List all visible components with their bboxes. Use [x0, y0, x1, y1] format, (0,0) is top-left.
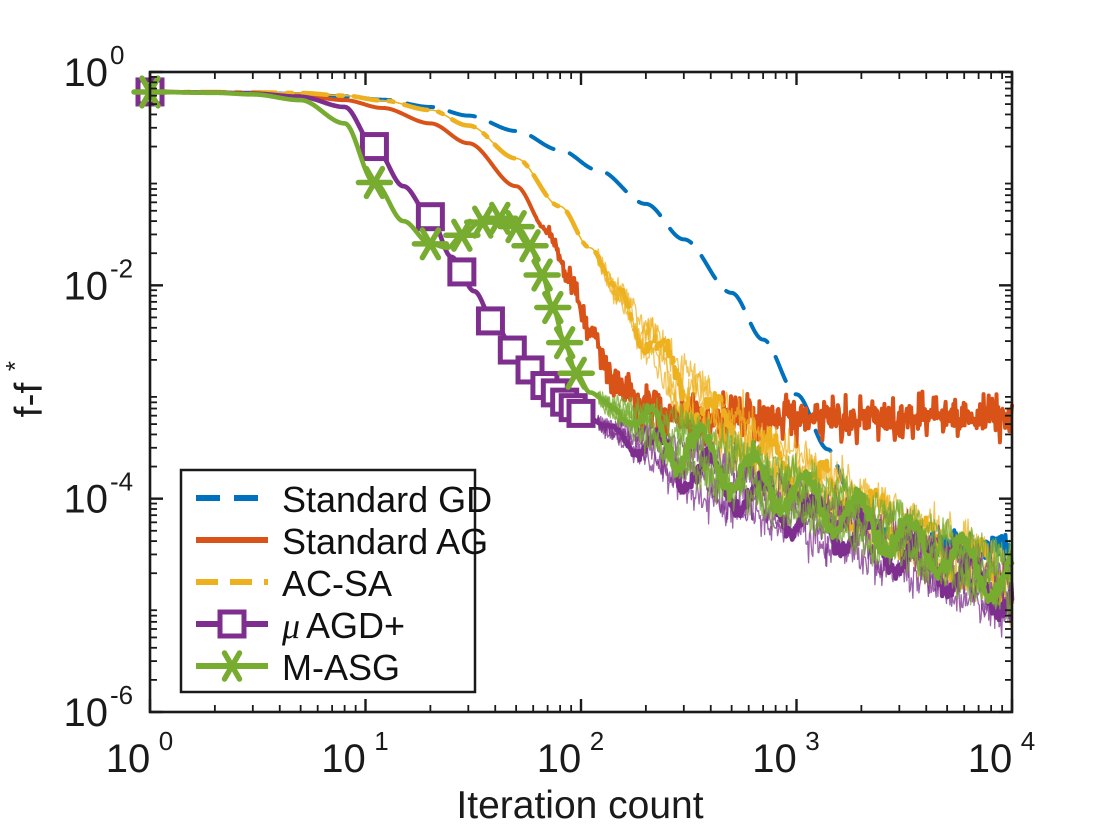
- y-tick-base: 10: [64, 691, 109, 735]
- legend[interactable]: Standard GDStandard AGAC-SAμ AGD+M-ASG: [181, 470, 492, 692]
- x-tick-exponent: 2: [590, 726, 604, 756]
- legend-label: AC-SA: [282, 563, 392, 604]
- x-tick-base: 10: [752, 737, 797, 781]
- x-tick-base: 10: [537, 737, 582, 781]
- x-tick-exponent: 0: [159, 726, 173, 756]
- y-axis-label-text: f-f: [8, 383, 51, 418]
- series-marker-square: [362, 135, 386, 159]
- x-axis-label: Iteration count: [456, 784, 703, 827]
- y-tick-exponent: -6: [110, 680, 133, 710]
- y-axis-label-superscript: *: [0, 361, 30, 371]
- x-tick-base: 10: [968, 737, 1013, 781]
- chart-canvas: 10010110210310410010-210-410-6 f-f * Ite…: [0, 0, 1120, 840]
- y-tick-base: 10: [64, 478, 109, 522]
- x-tick-base: 10: [321, 737, 366, 781]
- x-tick-exponent: 4: [1021, 726, 1035, 756]
- legend-label: Standard AG: [282, 521, 488, 562]
- legend-marker-square: [220, 612, 244, 636]
- series-marker-square: [569, 401, 593, 425]
- y-tick-exponent: -2: [110, 253, 133, 283]
- legend-label: M-ASG: [282, 647, 400, 688]
- legend-label: Standard GD: [282, 479, 492, 520]
- x-tick-exponent: 3: [805, 726, 819, 756]
- legend-label: AGD+: [306, 605, 405, 646]
- y-tick-exponent: 0: [110, 40, 124, 70]
- x-tick-exponent: 1: [374, 726, 388, 756]
- y-tick-exponent: -4: [110, 467, 133, 497]
- y-tick-base: 10: [64, 264, 109, 308]
- y-tick-base: 10: [64, 51, 109, 95]
- series-marker-square: [478, 309, 502, 333]
- legend-label-mu: μ: [281, 606, 300, 646]
- series-marker-square: [418, 205, 442, 229]
- series-marker-square: [450, 260, 474, 284]
- figure-container: 10010110210310410010-210-410-6 f-f * Ite…: [0, 0, 1120, 840]
- x-tick-base: 10: [106, 737, 151, 781]
